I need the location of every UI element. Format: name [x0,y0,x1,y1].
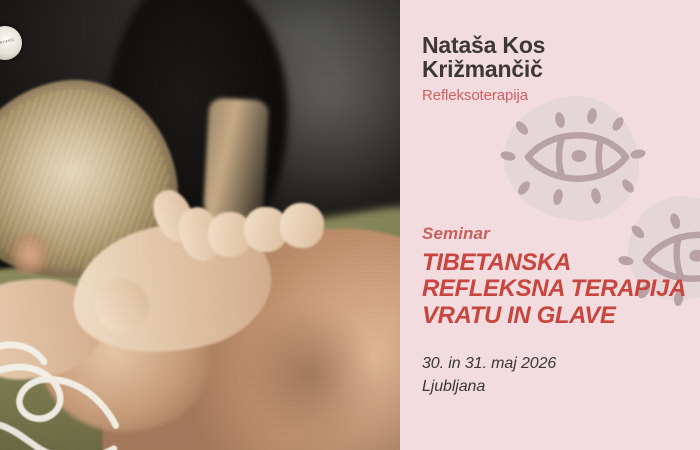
event-title-line2: REFLEKSNA TERAPIJA [422,276,698,302]
event-meta: 30. in 31. maj 2026 Ljubljana [422,352,556,398]
event-date: 30. in 31. maj 2026 [422,352,556,375]
event-title-line1: TIBETANSKA [422,250,698,276]
event-title-line3: VRATU IN GLAVE [422,303,698,329]
massage-photo: CERTIFIED [0,0,400,450]
practitioner-name: Nataša Kos Križmančič [422,0,696,82]
logo-badge-text: CERTIFIED [0,39,15,47]
eye-icon [500,100,650,220]
photo-grain [0,0,400,450]
event-title: TIBETANSKA REFLEKSNA TERAPIJA VRATU IN G… [422,250,698,329]
practitioner-name-line2: Križmančič [422,58,696,82]
photo-stage [0,0,400,450]
practitioner-name-line1: Nataša Kos [422,32,545,58]
seminar-poster: CERTIFIED [0,0,700,450]
practitioner-tagline: Refleksoterapija [422,87,696,104]
brand-block: Nataša Kos Križmančič Refleksoterapija [422,0,696,104]
event-block: Seminar TIBETANSKA REFLEKSNA TERAPIJA VR… [422,224,698,329]
event-kicker: Seminar [422,224,698,244]
event-location: Ljubljana [422,375,556,398]
info-panel: Nataša Kos Križmančič Refleksoterapija S… [400,0,700,450]
